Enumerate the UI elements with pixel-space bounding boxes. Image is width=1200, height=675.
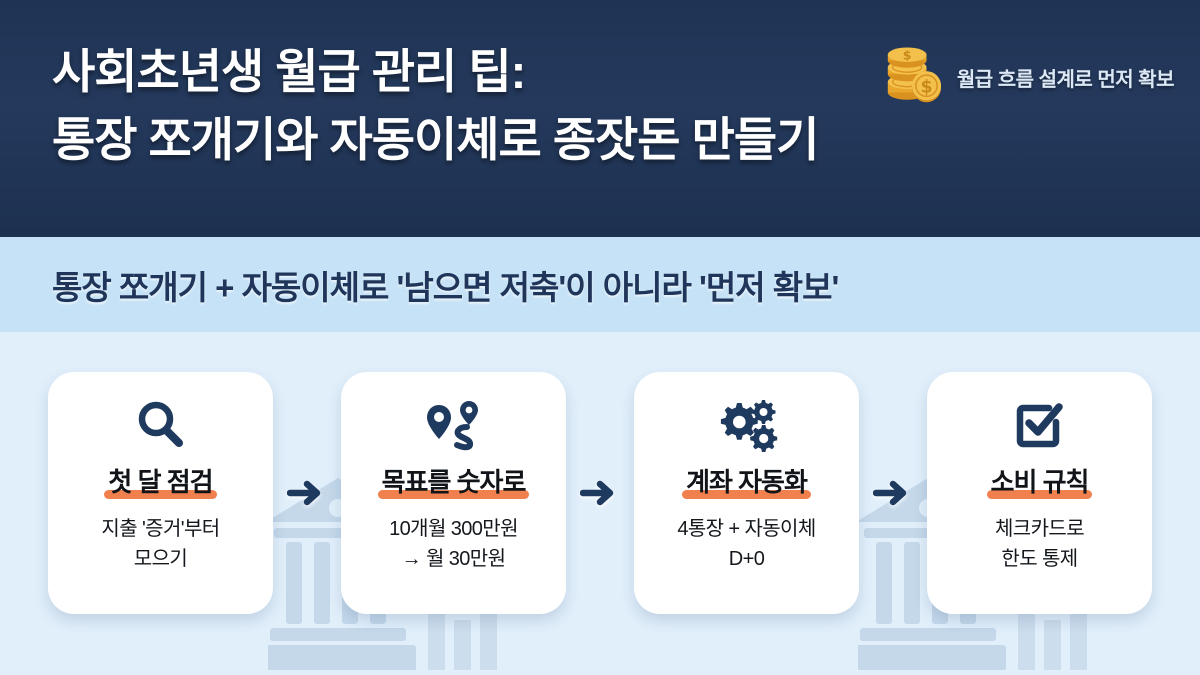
step-card-row: 첫 달 점검 지출 '증거'부터 모으기 bbox=[0, 372, 1200, 614]
svg-text:$: $ bbox=[920, 78, 932, 98]
step-desc-4: 체크카드로 한도 통제 bbox=[995, 514, 1084, 574]
step-title-1: 첫 달 점검 bbox=[108, 466, 212, 498]
coin-stack-icon: $ $ bbox=[881, 46, 943, 108]
svg-text:$: $ bbox=[903, 48, 912, 63]
infographic-root: 사회초년생 월급 관리 팁: 통장 쪼개기와 자동이체로 종잣돈 만들기 bbox=[0, 0, 1200, 675]
step-card-3[interactable]: 계좌 자동화 4통장 + 자동이체 D+0 bbox=[634, 372, 859, 614]
step-title-wrap-1: 첫 달 점검 bbox=[108, 466, 212, 498]
checkbox-check-icon bbox=[1012, 394, 1068, 456]
page-title-line-2: 통장 쪼개기와 자동이체로 종잣돈 만들기 bbox=[52, 106, 812, 174]
page-title: 사회초년생 월급 관리 팁: 통장 쪼개기와 자동이체로 종잣돈 만들기 bbox=[52, 38, 812, 174]
connector-arrow-1 bbox=[273, 372, 341, 614]
header-badge-label: 월급 흐름 설계로 먼저 확보 bbox=[957, 63, 1174, 92]
step-desc-3: 4통장 + 자동이체 D+0 bbox=[677, 514, 815, 574]
connector-arrow-2 bbox=[566, 372, 634, 614]
connector-arrow-3 bbox=[859, 372, 927, 614]
step-title-2: 목표를 숫자로 bbox=[382, 466, 526, 498]
magnifier-icon bbox=[133, 394, 189, 456]
step-title-wrap-2: 목표를 숫자로 bbox=[382, 466, 526, 498]
step-title-wrap-3: 계좌 자동화 bbox=[686, 466, 807, 498]
step-title-4: 소비 규칙 bbox=[991, 466, 1089, 498]
step-card-1[interactable]: 첫 달 점검 지출 '증거'부터 모으기 bbox=[48, 372, 273, 614]
step-card-4[interactable]: 소비 규칙 체크카드로 한도 통제 bbox=[927, 372, 1152, 614]
step-title-3: 계좌 자동화 bbox=[686, 466, 807, 498]
arrow-right-icon bbox=[580, 475, 620, 511]
header-badge: $ $ 월급 흐름 설계로 먼저 확보 bbox=[881, 46, 1174, 108]
subtitle-text: 통장 쪼개기 + 자동이체로 '남으면 저축'이 아니라 '먼저 확보' bbox=[52, 261, 838, 309]
page-title-line-1: 사회초년생 월급 관리 팁: bbox=[52, 45, 525, 98]
step-desc-2: 10개월 300만원 → 월 30만원 bbox=[389, 514, 518, 574]
arrow-right-icon bbox=[287, 475, 327, 511]
arrow-right-icon bbox=[873, 475, 913, 511]
step-desc-1: 지출 '증거'부터 모으기 bbox=[101, 514, 219, 574]
subtitle-band: 통장 쪼개기 + 자동이체로 '남으면 저축'이 아니라 '먼저 확보' bbox=[0, 237, 1200, 332]
map-route-pin-icon bbox=[424, 394, 484, 456]
step-title-wrap-4: 소비 규칙 bbox=[991, 466, 1089, 498]
gears-icon bbox=[716, 394, 778, 456]
step-card-2[interactable]: 목표를 숫자로 10개월 300만원 → 월 30만원 bbox=[341, 372, 566, 614]
header-banner: 사회초년생 월급 관리 팁: 통장 쪼개기와 자동이체로 종잣돈 만들기 bbox=[0, 0, 1200, 237]
